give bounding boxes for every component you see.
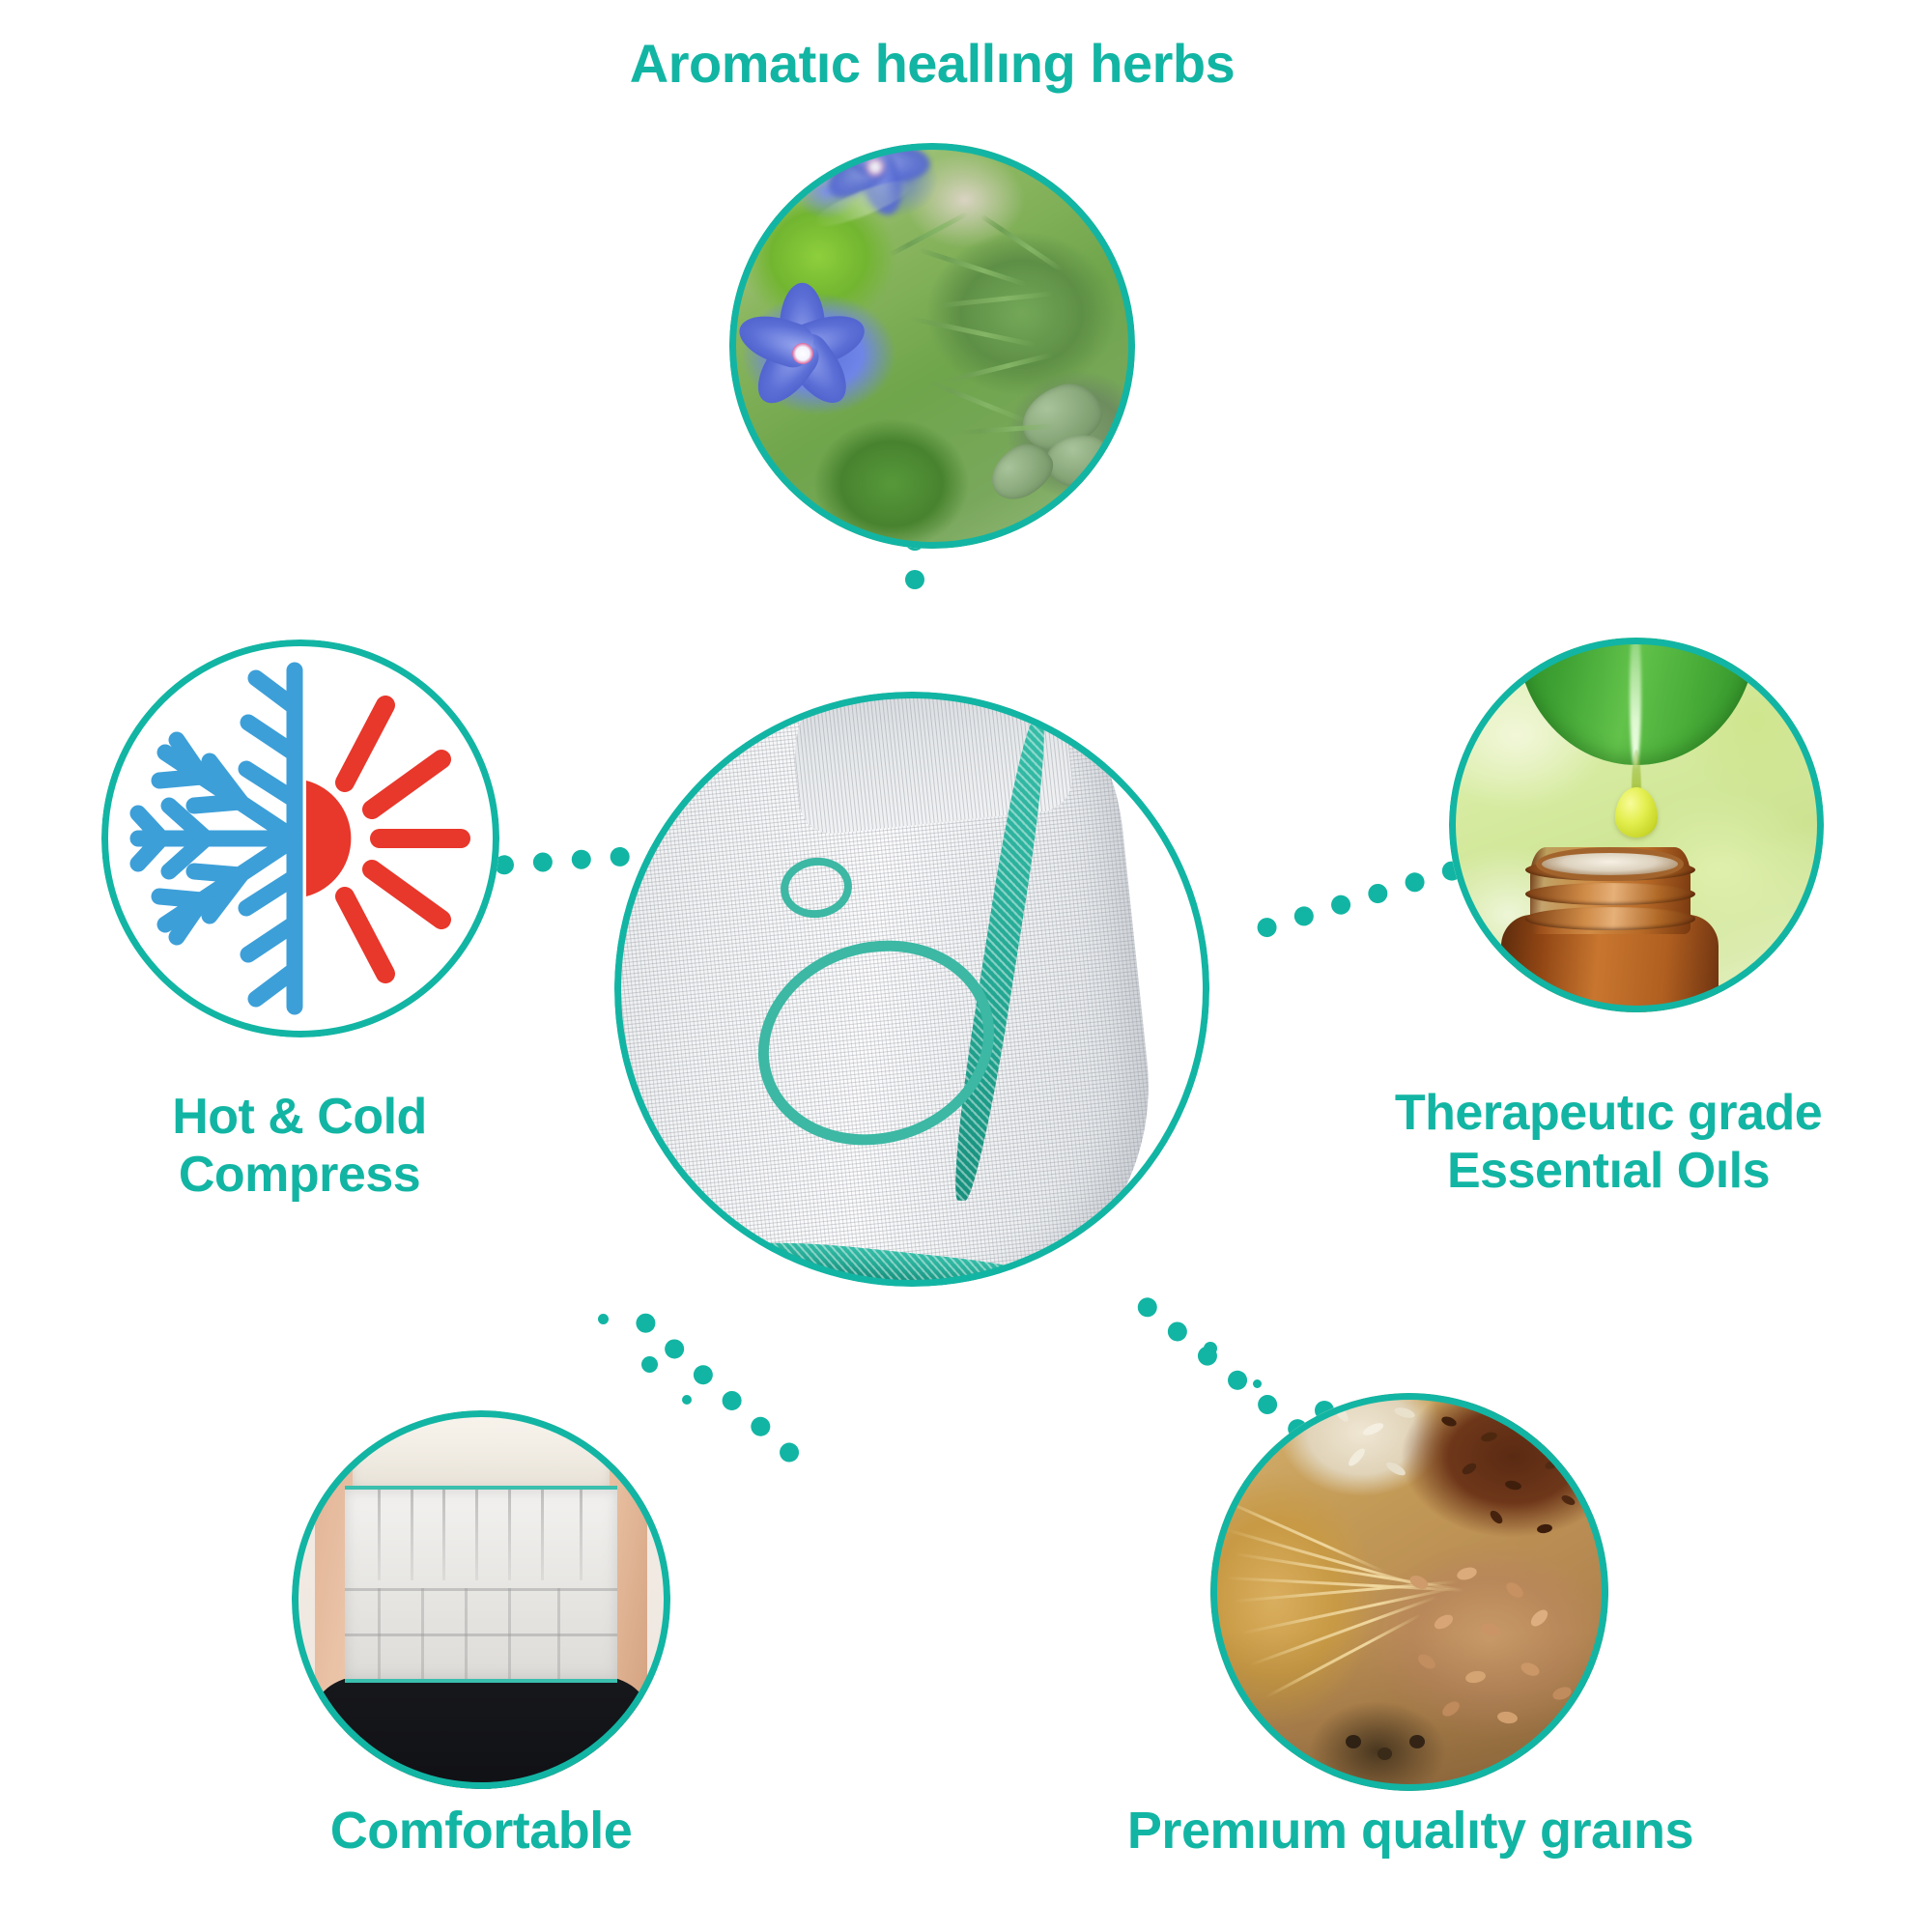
feature-circle-herbs[interactable]: [729, 143, 1135, 549]
accent-dot: [598, 1314, 609, 1324]
heat-pack-worn: [345, 1486, 617, 1683]
borage-flower: [753, 305, 851, 403]
feature-label-herbs: Aromatıc heallıng herbs: [444, 33, 1420, 96]
sun-half-icon: [306, 705, 461, 974]
accent-dot: [641, 1356, 658, 1373]
premium-grains-photo: [1210, 1393, 1608, 1791]
feature-label-grains: Premıum qualıty graıns: [1034, 1801, 1787, 1861]
feature-circle-grains[interactable]: [1210, 1393, 1608, 1791]
hot-cold-icon: [101, 639, 499, 1037]
feature-circle-essential-oils[interactable]: [1449, 638, 1824, 1012]
feature-circle-hot-cold[interactable]: [101, 639, 499, 1037]
infographic-canvas: Aromatıc heallıng herbs: [0, 0, 1932, 1932]
comfortable-wear-photo: [292, 1410, 670, 1789]
connector-center-to-oils: [1255, 859, 1463, 939]
accent-dot: [682, 1395, 692, 1405]
feature-label-hot-cold: Hot & Cold Compress: [58, 1088, 541, 1205]
accent-dot: [1253, 1379, 1262, 1388]
essential-oil-photo: [1449, 638, 1824, 1012]
feature-label-comfortable: Comfortable: [191, 1801, 771, 1861]
feature-circle-comfortable[interactable]: [292, 1410, 670, 1789]
amber-bottle: [1501, 847, 1719, 1012]
heat-pack-product-photo: [614, 692, 1209, 1287]
snowflake-half-icon: [138, 670, 295, 1007]
aromatic-herbs-photo: [729, 143, 1135, 549]
accent-dot: [1204, 1342, 1217, 1355]
feature-label-essential-oils: Therapeutıc grade Essentıal Oıls: [1294, 1084, 1922, 1201]
center-product-circle[interactable]: [614, 692, 1209, 1287]
